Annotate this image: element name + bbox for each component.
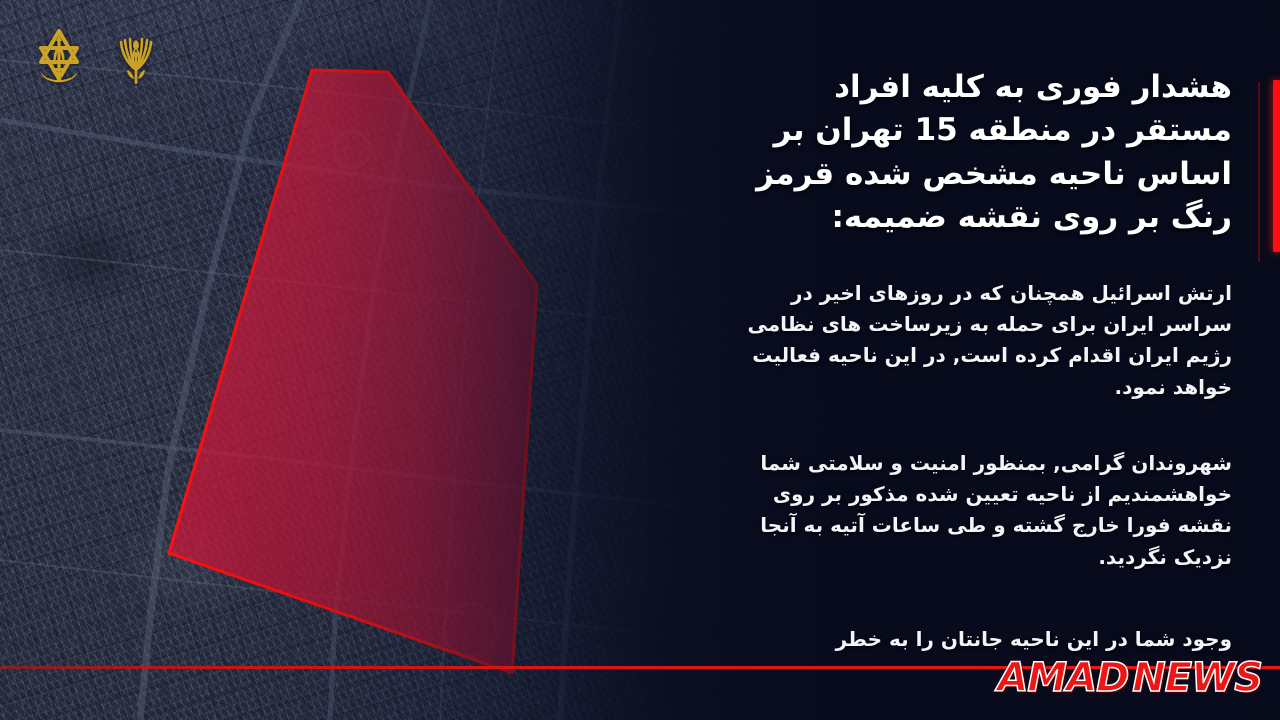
headline-line-3: اساس ناحیه مشخص شده قرمز [732,153,1232,196]
accent-bar-secondary [1258,82,1260,262]
body-paragraph-3: وجود شما در این ناحیه جانتان را به خطر [732,624,1232,655]
warning-graphic-canvas: هشدار فوری به کلیه افراد مستقر در منطقه … [0,0,1280,720]
emblem-group [28,24,164,90]
headline-block: هشدار فوری به کلیه افراد مستقر در منطقه … [732,66,1232,240]
headline-line-2: مستقر در منطقه 15 تهران بر [732,109,1232,152]
headline-line-1: هشدار فوری به کلیه افراد [732,66,1232,109]
body-paragraph-1: ارتش اسرائیل همچنان که در روزهای اخیر در… [732,278,1232,403]
amad-news-watermark: AMADNEWS [997,655,1262,701]
accent-bar-primary [1273,80,1280,252]
body-paragraph-2-wrap: شهروندان گرامی, بمنظور امنیت و سلامتی شم… [732,448,1232,573]
warning-text-panel: هشدار فوری به کلیه افراد مستقر در منطقه … [660,0,1280,720]
watermark-amad: AMAD [997,655,1128,701]
idf-spokesperson-broadcast-emblem-icon [108,26,164,88]
idf-insignia-emblem-icon [28,24,90,90]
body-paragraph-3-wrap: وجود شما در این ناحیه جانتان را به خطر [732,624,1232,655]
body-paragraph-1-wrap: ارتش اسرائیل همچنان که در روزهای اخیر در… [732,278,1232,403]
headline-line-4: رنگ بر روی نقشه ضمیمه: [732,196,1232,239]
watermark-news: NEWS [1132,655,1262,701]
body-paragraph-2: شهروندان گرامی, بمنظور امنیت و سلامتی شم… [732,448,1232,573]
